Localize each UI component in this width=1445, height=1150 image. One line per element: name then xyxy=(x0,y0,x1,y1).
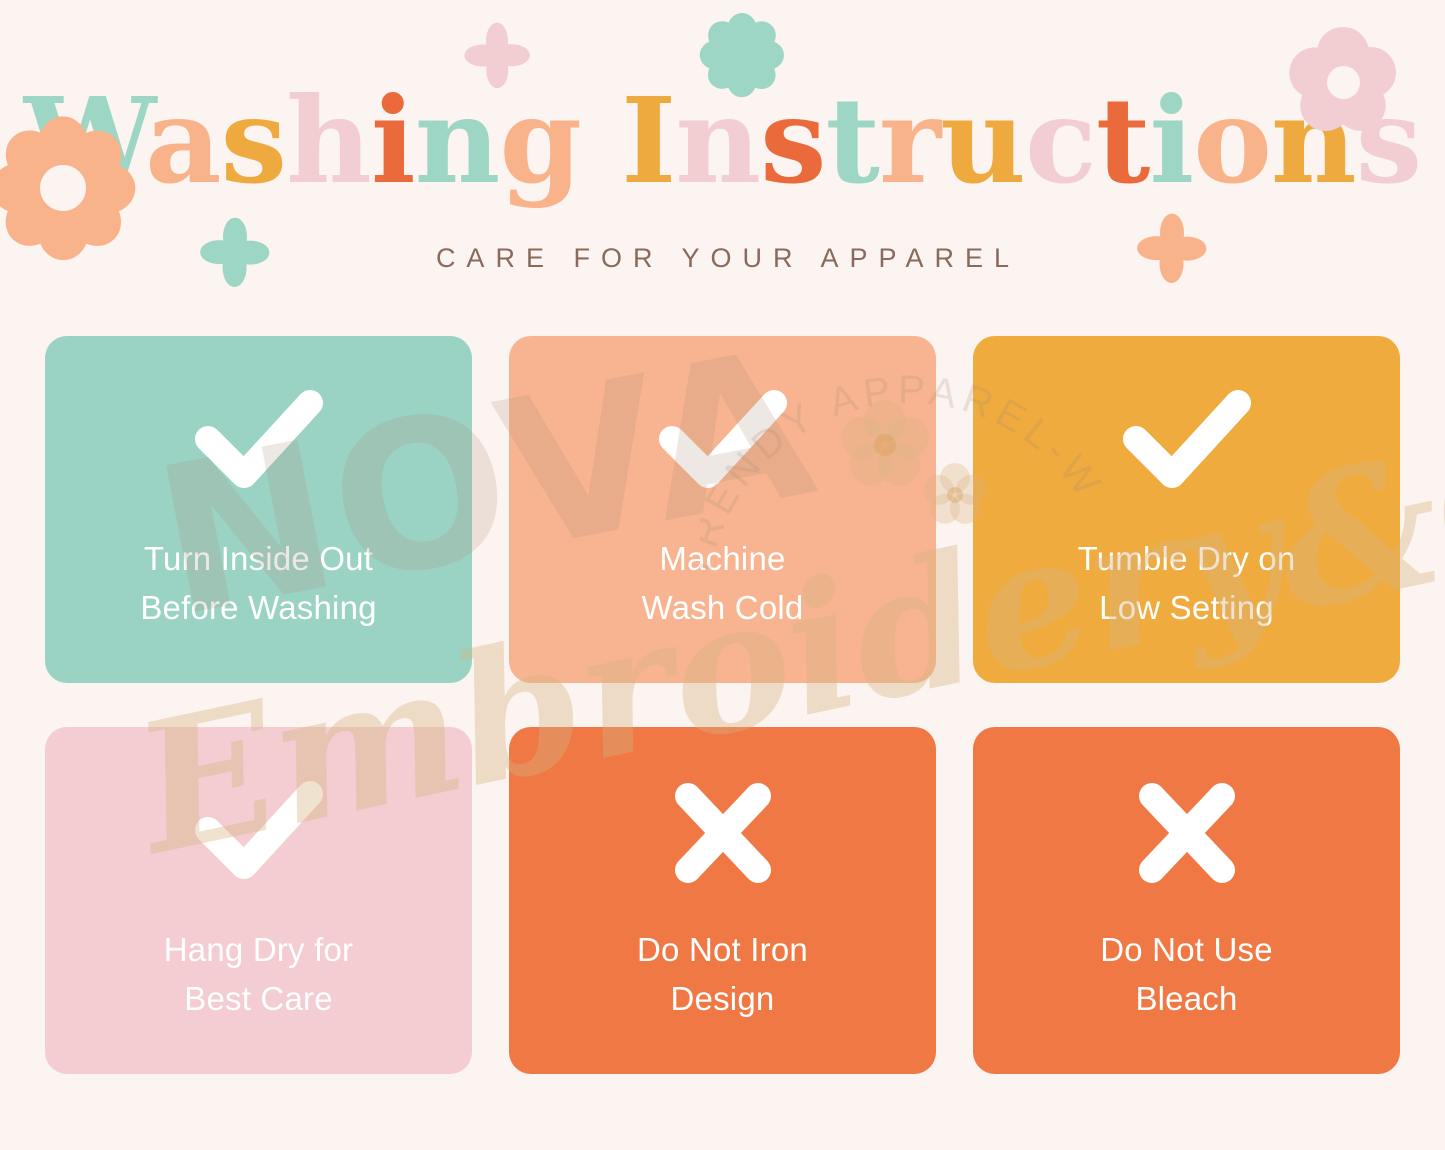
instruction-card-line1: Hang Dry for xyxy=(164,931,353,968)
title-letter: c xyxy=(1025,71,1096,210)
instruction-card-line2: Design xyxy=(637,975,808,1024)
title-letter: n xyxy=(415,71,500,210)
cross-icon xyxy=(1122,760,1252,926)
title-letter: n xyxy=(675,71,760,210)
check-icon xyxy=(1122,369,1252,535)
title-letter: i xyxy=(371,71,415,210)
title-letter xyxy=(581,71,621,210)
title-letter: s xyxy=(1356,71,1421,210)
instruction-card-line2: Low Setting xyxy=(1078,584,1296,633)
instruction-card-do-not-iron: Do Not IronDesign xyxy=(509,727,936,1074)
instruction-card-line1: Turn Inside Out xyxy=(144,540,373,577)
instruction-card-label: Do Not UseBleach xyxy=(1100,926,1273,1024)
washing-instructions-poster: Washing Instructions CARE FOR YOUR APPAR… xyxy=(0,0,1445,1150)
instruction-card-label: Hang Dry forBest Care xyxy=(164,926,353,1024)
instruction-card-label: Tumble Dry onLow Setting xyxy=(1078,535,1296,633)
instruction-card-line1: Machine xyxy=(659,540,785,577)
check-icon xyxy=(194,760,324,926)
instruction-card-line1: Do Not Use xyxy=(1100,931,1273,968)
check-icon xyxy=(194,369,324,535)
title-letter: s xyxy=(221,71,286,210)
poster-header: Washing Instructions CARE FOR YOUR APPAR… xyxy=(0,0,1445,320)
cross-icon xyxy=(658,760,788,926)
instruction-card-line2: Wash Cold xyxy=(642,584,804,633)
instruction-card-label: Turn Inside OutBefore Washing xyxy=(140,535,376,633)
title-letter: s xyxy=(760,71,825,210)
instruction-card-line2: Bleach xyxy=(1100,975,1273,1024)
title-letter: o xyxy=(1193,71,1271,210)
title-letter: u xyxy=(940,71,1025,210)
instruction-card-machine-wash-cold: MachineWash Cold xyxy=(509,336,936,683)
instruction-card-turn-inside-out: Turn Inside OutBefore Washing xyxy=(45,336,472,683)
title-letter: a xyxy=(145,71,220,210)
instruction-card-line2: Before Washing xyxy=(140,584,376,633)
title-letter: r xyxy=(879,71,940,210)
title-letter: I xyxy=(621,71,675,210)
instruction-card-hang-dry: Hang Dry forBest Care xyxy=(45,727,472,1074)
instruction-card-tumble-dry-low: Tumble Dry onLow Setting xyxy=(973,336,1400,683)
instruction-card-label: MachineWash Cold xyxy=(642,535,804,633)
instruction-card-label: Do Not IronDesign xyxy=(637,926,808,1024)
page-title: Washing Instructions xyxy=(0,82,1445,200)
instruction-card-do-not-bleach: Do Not UseBleach xyxy=(973,727,1400,1074)
instruction-card-line1: Do Not Iron xyxy=(637,931,808,968)
title-letter: g xyxy=(499,71,581,210)
title-letter: W xyxy=(24,71,145,210)
check-icon xyxy=(658,369,788,535)
title-letter: i xyxy=(1149,71,1193,210)
instruction-card-line1: Tumble Dry on xyxy=(1078,540,1296,577)
instruction-card-grid: Turn Inside OutBefore WashingMachineWash… xyxy=(45,336,1400,1074)
instruction-card-line2: Best Care xyxy=(164,975,353,1024)
title-letter: h xyxy=(286,71,371,210)
title-letter: n xyxy=(1271,71,1356,210)
page-subtitle: CARE FOR YOUR APPAREL xyxy=(0,243,1445,274)
title-letter: t xyxy=(1096,71,1150,210)
title-letter: t xyxy=(826,71,880,210)
